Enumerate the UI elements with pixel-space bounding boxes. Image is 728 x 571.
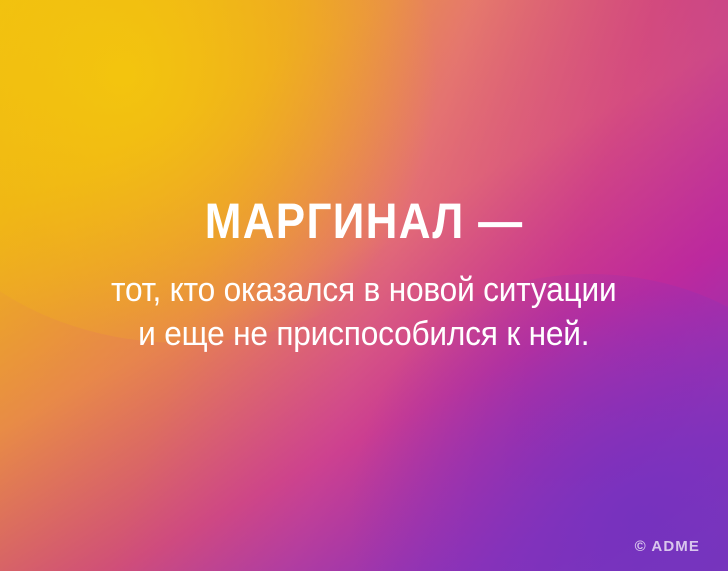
poster-content: МАРГИНАЛ — тот, кто оказался в новой сит…: [0, 0, 728, 571]
headline-term: МАРГИНАЛ —: [205, 196, 524, 246]
poster-canvas: МАРГИНАЛ — тот, кто оказался в новой сит…: [0, 0, 728, 571]
definition-line-1: тот, кто оказался в новой ситуации: [111, 268, 616, 312]
definition-text: тот, кто оказался в новой ситуации и еще…: [111, 268, 616, 356]
definition-line-2: и еще не приспособился к ней.: [111, 312, 616, 356]
watermark-credit: © ADME: [635, 538, 700, 555]
